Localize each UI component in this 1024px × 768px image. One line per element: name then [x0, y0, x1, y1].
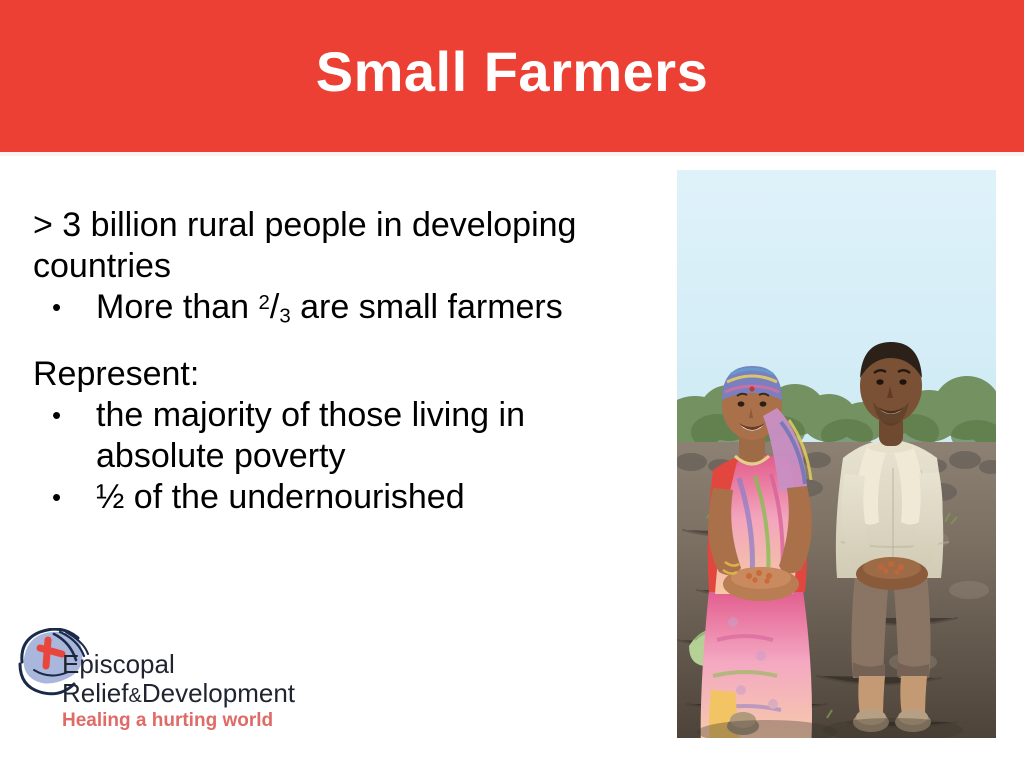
block2-lead: Represent: — [30, 354, 650, 395]
logo-wordmark: Episcopal Relief&Development — [62, 650, 307, 711]
page-title: Small Farmers — [0, 38, 1024, 106]
organization-logo: Episcopal Relief&Development Healing a h… — [14, 628, 304, 738]
block2-bullet-1-text: the majority of those living in absolute… — [96, 395, 650, 477]
logo-tagline: Healing a hurting world — [62, 710, 273, 732]
block1-lead: > 3 billion rural people in developing c… — [30, 205, 650, 287]
bullet-icon: • — [52, 287, 96, 328]
fraction-numerator: 2 — [259, 292, 270, 314]
fraction-denominator: 3 — [279, 305, 290, 327]
slide: Small Farmers > 3 billion rural people i… — [0, 0, 1024, 768]
bullet-icon: • — [52, 395, 96, 477]
list-item: • ½ of the undernourished — [30, 477, 650, 518]
logo-line-2: Relief&Development — [62, 679, 307, 711]
logo-ampersand: & — [128, 685, 141, 707]
title-banner-underline — [0, 152, 1024, 156]
fraction-slash: / — [270, 288, 279, 326]
logo-line-1: Episcopal — [62, 650, 307, 679]
logo-line-2-post: Development — [142, 678, 295, 708]
text-block-1: > 3 billion rural people in developing c… — [30, 205, 650, 328]
bullet-icon: • — [52, 477, 96, 518]
block2-bullet-2-text: ½ of the undernourished — [96, 477, 650, 518]
bullet-suffix: are small farmers — [300, 288, 563, 326]
list-item: • the majority of those living in absolu… — [30, 395, 650, 477]
block-spacer — [30, 328, 650, 354]
fraction-two-thirds: 2/3 — [249, 288, 291, 326]
logo-line-2-pre: Relief — [62, 678, 128, 708]
list-item: • More than 2/3 are small farmers — [30, 287, 650, 328]
bullet-prefix: More than — [96, 288, 249, 326]
text-block-2: Represent: • the majority of those livin… — [30, 354, 650, 518]
farmers-photo — [677, 170, 996, 738]
block1-bullet-1-text: More than 2/3 are small farmers — [96, 287, 650, 328]
body-content: > 3 billion rural people in developing c… — [30, 205, 650, 518]
